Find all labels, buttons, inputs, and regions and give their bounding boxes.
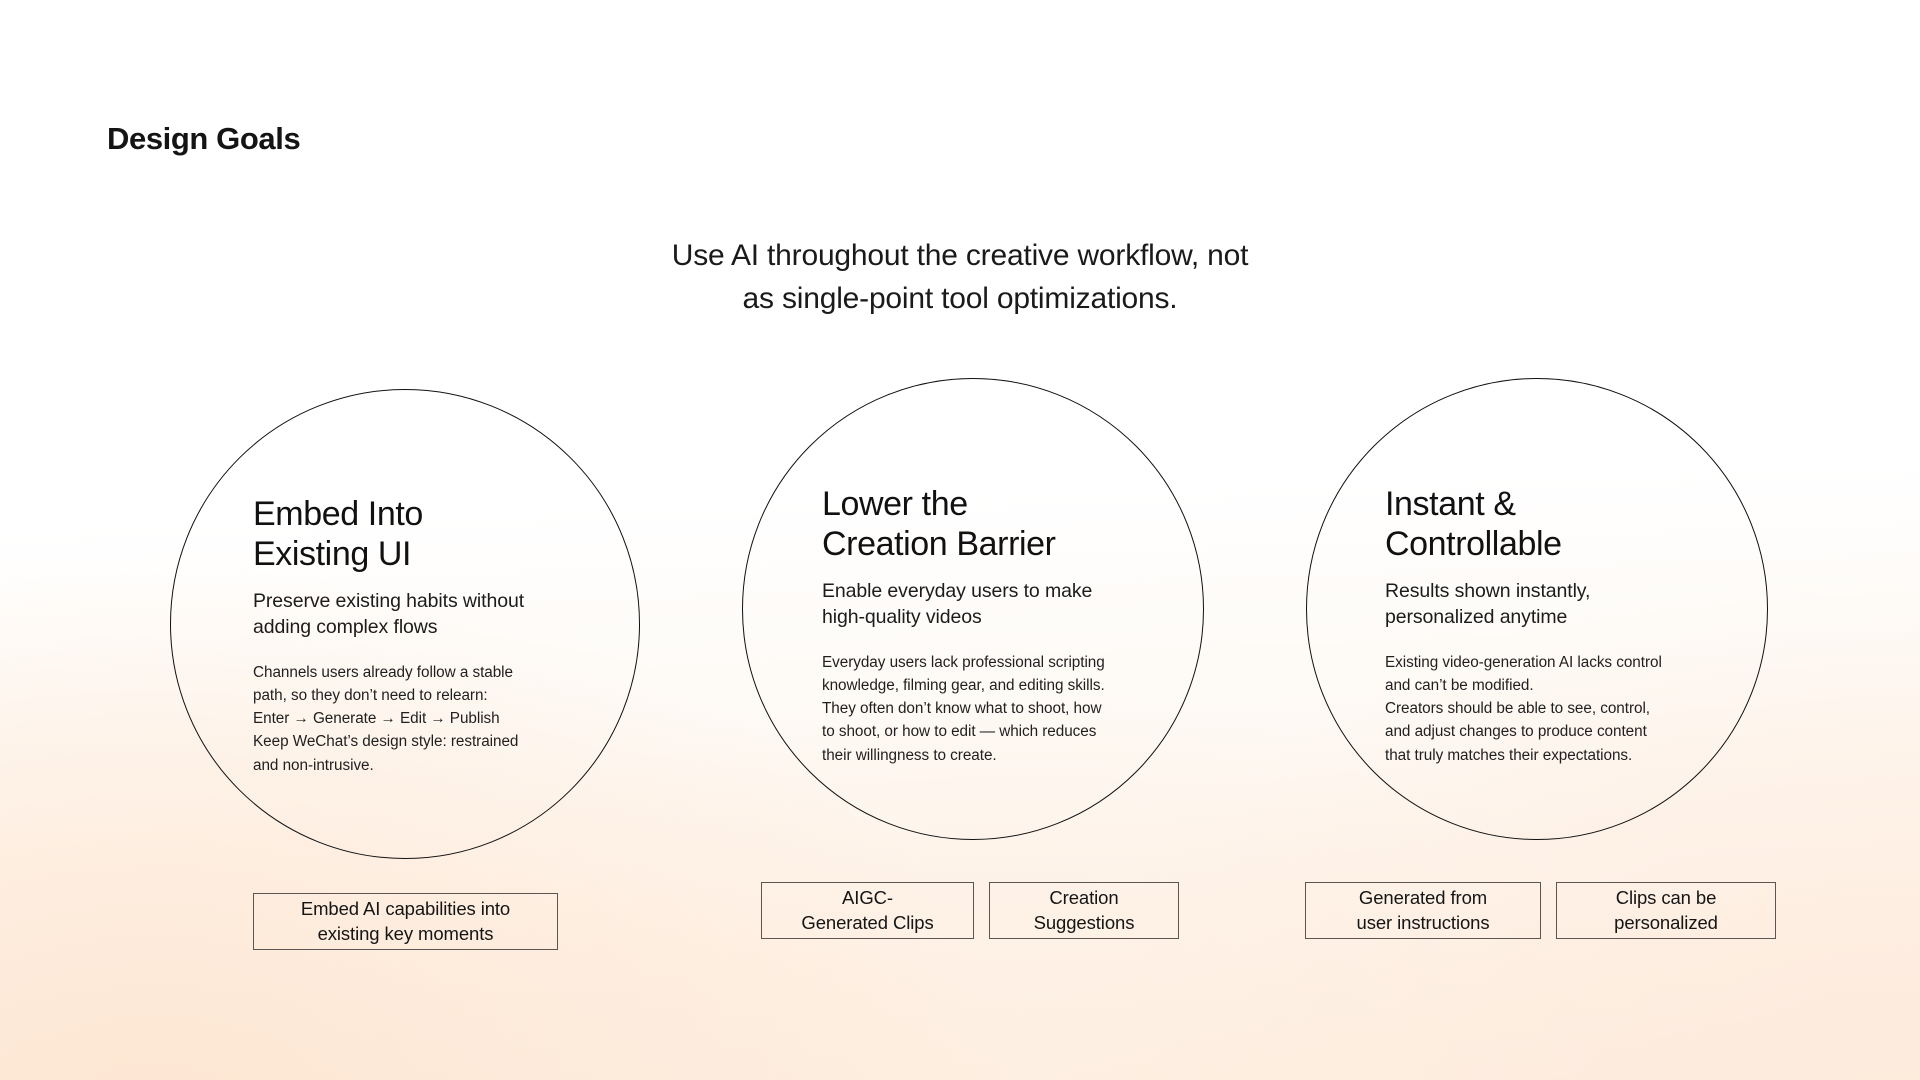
- goal-body-2-line-1: Everyday users lack professional scripti…: [822, 651, 1132, 674]
- goal-title-3-line-1: Instant &: [1385, 484, 1705, 524]
- tag-line-2: existing key moments: [301, 922, 510, 947]
- goal-body-1: Channels users already follow a stable p…: [253, 661, 563, 777]
- slide-canvas: Design Goals Use AI throughout the creat…: [0, 0, 1920, 1080]
- goal-body-3-line-1: Existing video-generation AI lacks contr…: [1385, 651, 1705, 674]
- goal-title-1-line-1: Embed Into: [253, 494, 563, 534]
- tag-generated-from-user-instructions[interactable]: Generated from user instructions: [1305, 882, 1541, 939]
- goal-body-2-line-4: to shoot, or how to edit — which reduces: [822, 720, 1132, 743]
- goal-body-1-line-5: and non-intrusive.: [253, 754, 563, 777]
- tag-creation-suggestions[interactable]: Creation Suggestions: [989, 882, 1179, 939]
- goal-body-2-line-2: knowledge, filming gear, and editing ski…: [822, 674, 1132, 697]
- goal-body-1-line-2: path, so they don’t need to relearn:: [253, 684, 563, 707]
- goal-body-3-line-2: and can’t be modified.: [1385, 674, 1705, 697]
- goal-subtitle-2: Enable everyday users to make high-quali…: [822, 579, 1132, 630]
- goal-title-1: Embed Into Existing UI: [253, 494, 563, 574]
- goal-body-2: Everyday users lack professional scripti…: [822, 651, 1132, 767]
- goal-subtitle-2-line-1: Enable everyday users to make: [822, 579, 1132, 605]
- goal-text-2: Lower the Creation Barrier Enable everyd…: [822, 484, 1132, 767]
- tag-line-1: Generated from: [1357, 886, 1490, 911]
- goal-subtitle-1-line-2: adding complex flows: [253, 615, 563, 641]
- goal-body-1-line-4: Keep WeChat’s design style: restrained: [253, 730, 563, 753]
- goal-body-3-line-5: that truly matches their expectations.: [1385, 744, 1705, 767]
- tag-line-2: personalized: [1614, 911, 1718, 936]
- goal-body-2-line-3: They often don’t know what to shoot, how: [822, 697, 1132, 720]
- goal-title-3: Instant & Controllable: [1385, 484, 1705, 564]
- tag-line-1: Embed AI capabilities into: [301, 897, 510, 922]
- goal-title-2-line-2: Creation Barrier: [822, 524, 1132, 564]
- goal-tags-1: Embed AI capabilities into existing key …: [253, 893, 558, 950]
- tag-line-2: Generated Clips: [801, 911, 933, 936]
- tag-line-2: Suggestions: [1034, 911, 1135, 936]
- goal-subtitle-3-line-2: personalized anytime: [1385, 605, 1705, 631]
- goal-body-3-line-4: and adjust changes to produce content: [1385, 720, 1705, 743]
- goal-subtitle-1: Preserve existing habits without adding …: [253, 589, 563, 640]
- goal-title-2: Lower the Creation Barrier: [822, 484, 1132, 564]
- goal-body-1-line-1: Channels users already follow a stable: [253, 661, 563, 684]
- tag-aigc-generated-clips[interactable]: AIGC- Generated Clips: [761, 882, 974, 939]
- tag-line-1: Clips can be: [1614, 886, 1718, 911]
- goal-body-3-line-3: Creators should be able to see, control,: [1385, 697, 1705, 720]
- goal-text-1: Embed Into Existing UI Preserve existing…: [253, 494, 563, 777]
- goal-subtitle-3: Results shown instantly, personalized an…: [1385, 579, 1705, 630]
- goal-text-3: Instant & Controllable Results shown ins…: [1385, 484, 1705, 767]
- goal-subtitle-2-line-2: high-quality videos: [822, 605, 1132, 631]
- goal-body-3: Existing video-generation AI lacks contr…: [1385, 651, 1705, 767]
- goal-title-2-line-1: Lower the: [822, 484, 1132, 524]
- goal-columns: Embed Into Existing UI Preserve existing…: [0, 0, 1920, 1080]
- goal-tags-2: AIGC- Generated Clips Creation Suggestio…: [761, 882, 1179, 939]
- tag-line-1: Creation: [1034, 886, 1135, 911]
- goal-subtitle-3-line-1: Results shown instantly,: [1385, 579, 1705, 605]
- goal-tags-3: Generated from user instructions Clips c…: [1305, 882, 1776, 939]
- tag-line-2: user instructions: [1357, 911, 1490, 936]
- tag-embed-ai-capabilities[interactable]: Embed AI capabilities into existing key …: [253, 893, 558, 950]
- tag-clips-can-be-personalized[interactable]: Clips can be personalized: [1556, 882, 1776, 939]
- goal-body-2-line-5: their willingness to create.: [822, 744, 1132, 767]
- goal-title-1-line-2: Existing UI: [253, 534, 563, 574]
- goal-body-1-line-3: Enter → Generate → Edit → Publish: [253, 707, 563, 730]
- goal-subtitle-1-line-1: Preserve existing habits without: [253, 589, 563, 615]
- goal-title-3-line-2: Controllable: [1385, 524, 1705, 564]
- tag-line-1: AIGC-: [801, 886, 933, 911]
